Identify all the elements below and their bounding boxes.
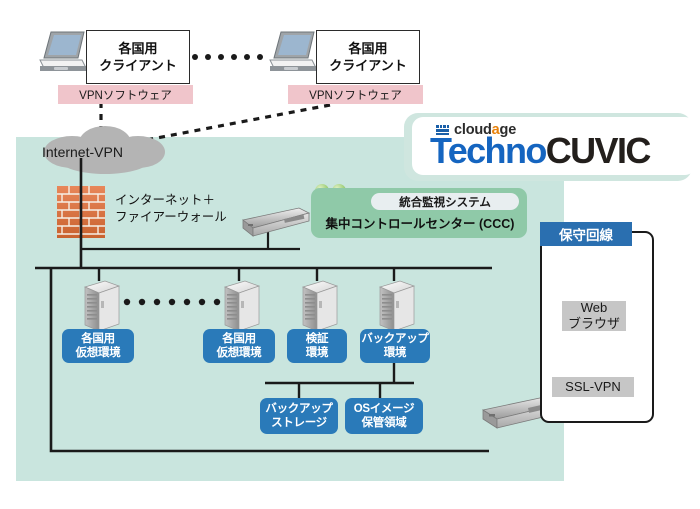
storage-pill-2-line1: OSイメージ: [354, 402, 415, 416]
server-pill-4: バックアップ 環境: [360, 329, 430, 363]
server-pill-2-line2: 仮想環境: [217, 346, 262, 360]
web-browser-line1: Web: [581, 300, 608, 316]
client2-laptop-icon: [270, 32, 316, 71]
product-wordmark: TechnoCUVIC: [430, 131, 650, 171]
server-pill-1: 各国用 仮想環境: [62, 329, 134, 363]
server-pill-1-line1: 各国用: [81, 332, 115, 346]
server-pill-3-line2: 環境: [306, 346, 328, 360]
firewall-label-line2: ファイアーウォール: [115, 209, 227, 225]
diagram-canvas: VPNソフトウェア 各国用 クライアント VPNソフトウェア 各国用 クライアン…: [0, 0, 700, 509]
web-browser-label: Web ブラウザ: [562, 301, 626, 331]
firewall-label-line1: インターネット＋: [115, 192, 215, 208]
web-browser-line2: ブラウザ: [568, 316, 620, 332]
clients-ellipsis: [192, 54, 263, 60]
client1-vpn-band: VPNソフトウェア: [58, 85, 193, 104]
server-pill-4-line1: バックアップ: [361, 332, 428, 346]
ssl-vpn-label: SSL-VPN: [552, 377, 634, 397]
server-pill-2-line1: 各国用: [222, 332, 256, 346]
maintenance-header: 保守回線: [540, 222, 632, 246]
brand-logo-card: cloudage TechnoCUVIC: [412, 117, 696, 175]
server-pill-4-line2: 環境: [384, 346, 406, 360]
ccc-name: 集中コントロールセンター (CCC): [316, 213, 524, 232]
client1-title-line1: 各国用: [118, 40, 157, 57]
ccc-switch-device: [243, 208, 309, 236]
client2-title-line1: 各国用: [348, 40, 387, 57]
server-tower-group: [85, 281, 414, 331]
storage-pill-2: OSイメージ 保管領域: [345, 398, 423, 434]
server-pill-3-line1: 検証: [306, 332, 328, 346]
storage-pill-1: バックアップ ストレージ: [260, 398, 338, 434]
storage-pill-2-line2: 保管領域: [362, 416, 407, 430]
server-pill-2: 各国用 仮想環境: [203, 329, 275, 363]
storage-pill-1-line2: ストレージ: [271, 416, 327, 430]
client2-box: 各国用 クライアント: [316, 30, 420, 84]
storage-pill-1-line1: バックアップ: [265, 402, 332, 416]
client2-vpn-band: VPNソフトウェア: [288, 85, 423, 104]
server-pill-3: 検証 環境: [287, 329, 347, 363]
ccc-tag: 統合監視システム: [371, 193, 519, 210]
servers-ellipsis: [124, 299, 220, 305]
product-wordmark-cuvic: CUVIC: [546, 130, 650, 171]
client1-laptop-icon: [40, 32, 86, 71]
client2-title-line2: クライアント: [329, 57, 406, 74]
internet-vpn-label: Internet-VPN: [42, 144, 123, 160]
client1-title-line2: クライアント: [99, 57, 176, 74]
product-wordmark-techno: Techno: [430, 130, 546, 171]
server-pill-1-line2: 仮想環境: [76, 346, 121, 360]
client1-box: 各国用 クライアント: [86, 30, 190, 84]
